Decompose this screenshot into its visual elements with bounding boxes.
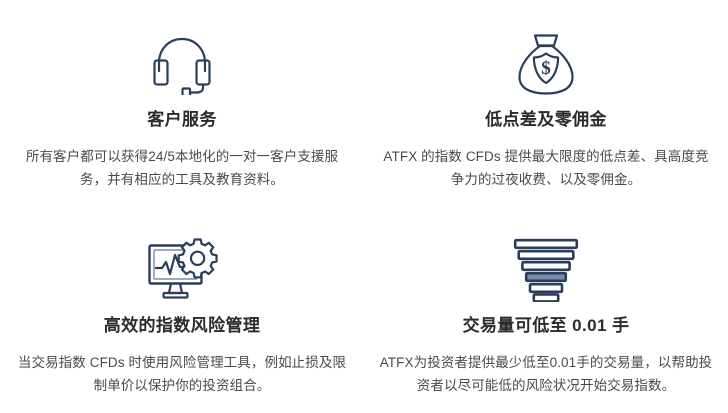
feature-title: 低点差及零佣金 [485, 109, 607, 131]
features-grid: 客户服务 所有客户都可以获得24/5本地化的一对一客户支援服务，并有相应的工具及… [0, 0, 728, 413]
feature-card-lot-size: 交易量可低至 0.01 手 ATFX为投资者提供最少低至0.01手的交易量，以帮… [364, 207, 728, 413]
feature-description: 所有客户都可以获得24/5本地化的一对一客户支援服务，并有相应的工具及教育资料。 [14, 145, 350, 191]
feature-card-customer-service: 客户服务 所有客户都可以获得24/5本地化的一对一客户支援服务，并有相应的工具及… [0, 0, 364, 207]
monitor-chart-gear-icon [146, 233, 218, 307]
feature-card-low-spread: $ 低点差及零佣金 ATFX 的指数 CFDs 提供最大限度的低点差、具高度竞争… [364, 0, 728, 207]
funnel-bars-icon [513, 233, 579, 307]
feature-description: ATFX为投资者提供最少低至0.01手的交易量，以帮助投资者以尽可能低的风险状况… [378, 351, 714, 397]
feature-title: 高效的指数风险管理 [104, 315, 261, 337]
feature-title: 交易量可低至 0.01 手 [463, 315, 630, 337]
feature-description: 当交易指数 CFDs 时使用风险管理工具，例如止损及限制单价以保护你的投资组合。 [14, 351, 350, 397]
feature-description: ATFX 的指数 CFDs 提供最大限度的低点差、具高度竞争力的过夜收费、以及零… [378, 145, 714, 191]
feature-card-risk-management: 高效的指数风险管理 当交易指数 CFDs 时使用风险管理工具，例如止损及限制单价… [0, 207, 364, 413]
money-bag-shield-dollar-icon: $ [514, 27, 578, 101]
feature-title: 客户服务 [147, 109, 217, 131]
headset-icon [149, 27, 215, 101]
svg-text:$: $ [541, 58, 551, 79]
